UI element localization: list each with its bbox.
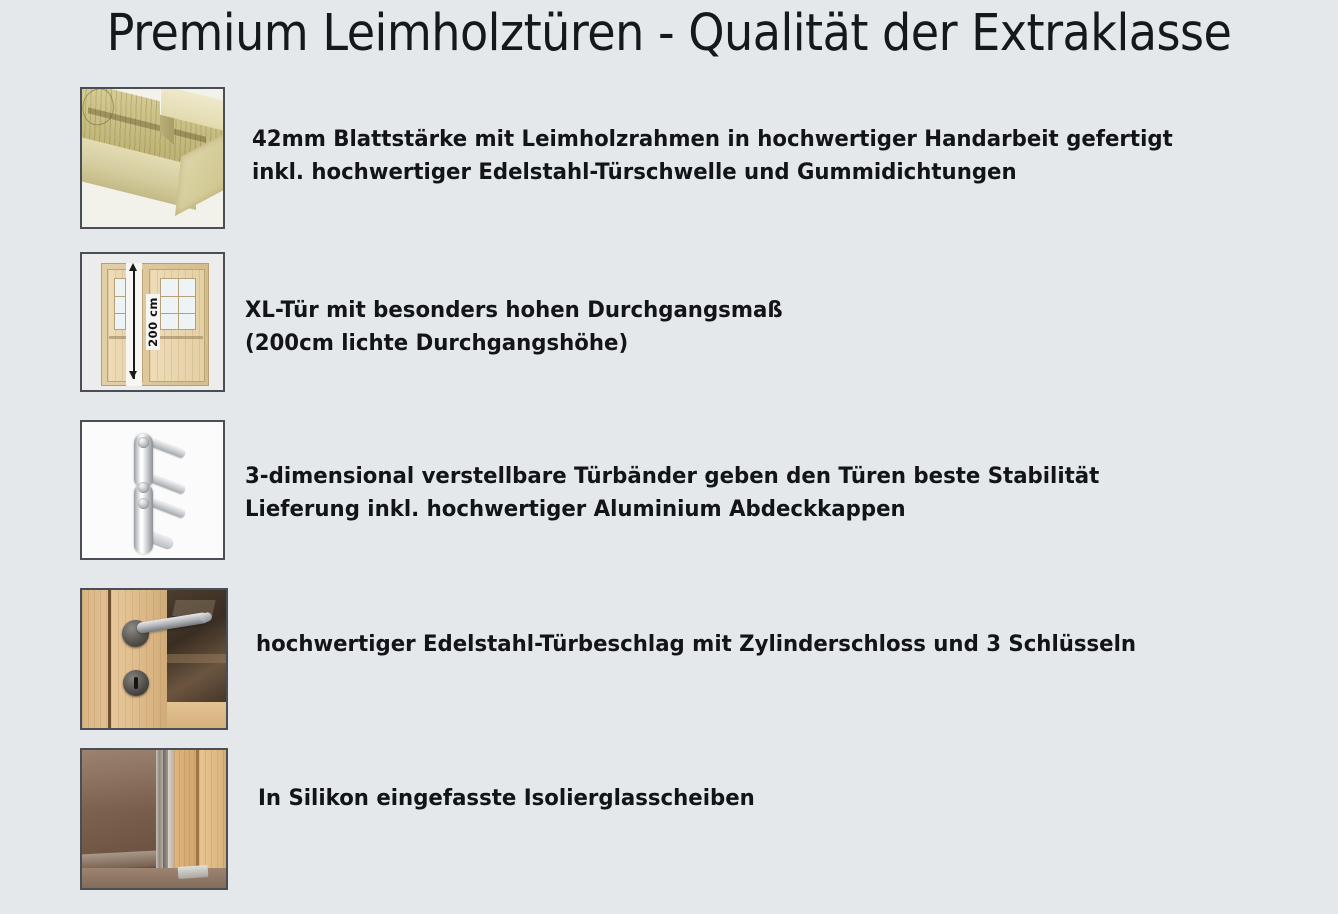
- hinge-stud: [152, 474, 187, 495]
- feature-line: inkl. hochwertiger Edelstahl-Türschwelle…: [252, 156, 1173, 189]
- dimension-line: [133, 270, 135, 379]
- hinge-artwork: [82, 422, 223, 558]
- hinge-adjust-screw: [138, 498, 149, 509]
- feature-text-isolierglas: In Silikon eingefasste Isolierglasscheib…: [258, 782, 755, 815]
- stainless-door-handle-photo: [80, 588, 228, 730]
- hinge-adjust-screw: [138, 482, 149, 493]
- hinge-stud: [152, 498, 187, 519]
- feature-line: Lieferung inkl. hochwertiger Aluminium A…: [245, 493, 1099, 526]
- handle-door-sill: [167, 702, 226, 728]
- handle-door-stile-right: [111, 590, 167, 728]
- feature-line: 3-dimensional verstellbare Türbänder geb…: [245, 460, 1099, 493]
- glasspane-artwork: [82, 750, 226, 888]
- adjustable-hinge-photo: [80, 420, 225, 560]
- hinge-stud: [152, 438, 187, 459]
- door-frame-cut-photo: [80, 87, 225, 229]
- feature-text-tuerbaender: 3-dimensional verstellbare Türbänder geb…: [245, 460, 1099, 526]
- feature-line: hochwertiger Edelstahl-Türbeschlag mit Z…: [256, 628, 1136, 661]
- feature-line: XL-Tür mit besonders hohen Durchgangsmaß: [245, 294, 783, 327]
- glasspane-haze: [82, 750, 160, 810]
- framecut-artwork: [82, 89, 223, 227]
- glasspane-metal-clip: [178, 865, 209, 879]
- feature-line: (200cm lichte Durchgangshöhe): [245, 327, 783, 360]
- feature-line: 42mm Blattstärke mit Leimholzrahmen in h…: [252, 123, 1173, 156]
- feature-text-tuerbeschlag: hochwertiger Edelstahl-Türbeschlag mit Z…: [256, 628, 1136, 661]
- handle-artwork: [82, 590, 226, 728]
- hinge-adjust-screw: [138, 437, 149, 448]
- xl-double-door-diagram: 200 cm: [80, 252, 225, 392]
- dimension-arrow-up-icon: [129, 263, 137, 271]
- page-title: Premium Leimholztüren - Qualität der Ext…: [64, 4, 1275, 63]
- hinge-highlight: [140, 436, 143, 552]
- dimension-arrow-down-icon: [129, 371, 137, 379]
- hinge-barrel-lower: [134, 484, 153, 554]
- feature-line: In Silikon eingefasste Isolierglasscheib…: [258, 782, 755, 815]
- feature-text-blattstaerke: 42mm Blattstärke mit Leimholzrahmen in h…: [252, 123, 1173, 189]
- door-mullion: [178, 279, 179, 329]
- handle-keyhole: [134, 677, 138, 689]
- door-mullion: [161, 313, 195, 314]
- handle-door-stile-left: [82, 590, 108, 728]
- feature-text-xl-tuer: XL-Tür mit besonders hohen Durchgangsmaß…: [245, 294, 783, 360]
- handle-glass-crossbar: [167, 654, 226, 663]
- silicone-insulated-glass-photo: [80, 748, 228, 890]
- door-mullion: [161, 296, 195, 297]
- door-glass-right: [160, 278, 196, 330]
- door-artwork: 200 cm: [82, 254, 223, 390]
- dimension-label: 200 cm: [146, 294, 160, 350]
